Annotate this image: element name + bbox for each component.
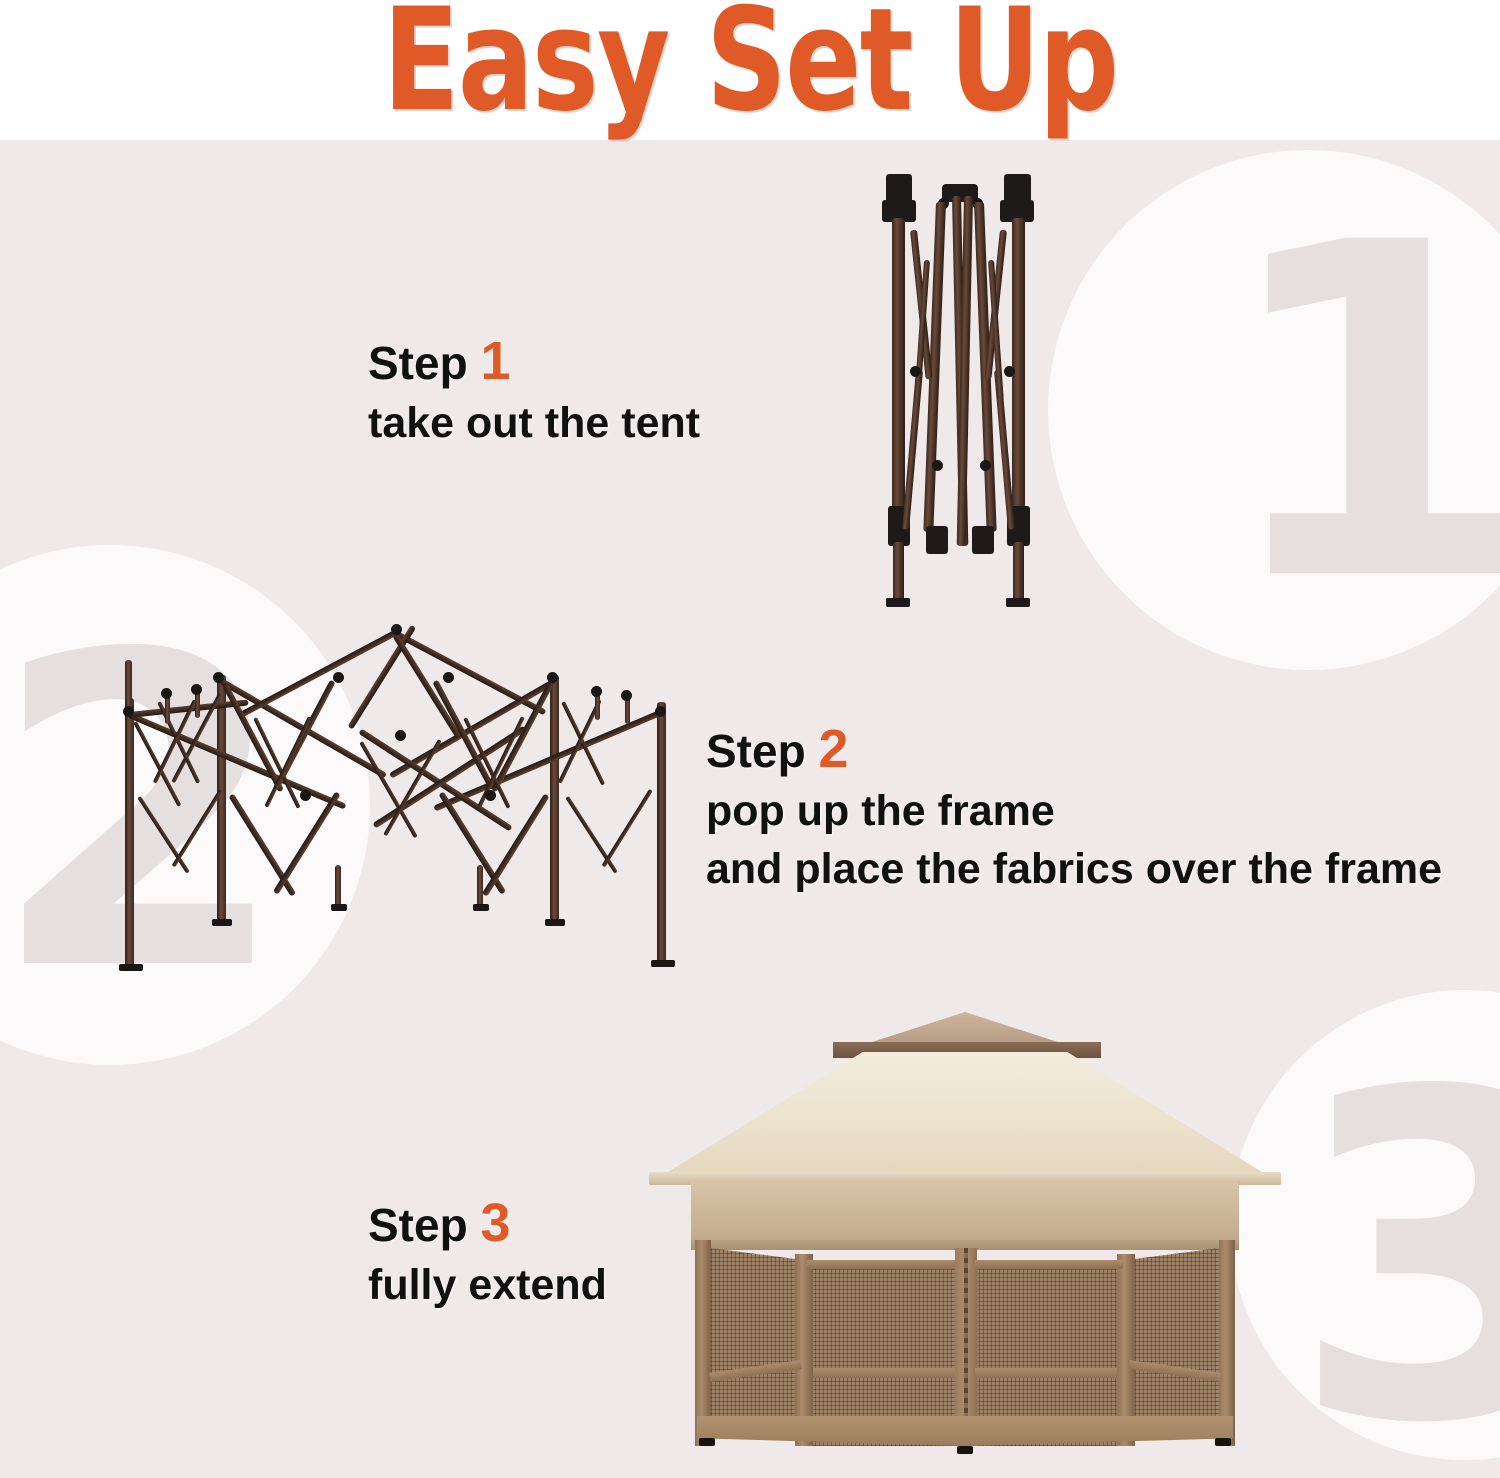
step-2-number: 2	[818, 719, 848, 779]
step-1-number: 1	[480, 331, 510, 391]
gazebo-roof-vent-top	[860, 1012, 1070, 1046]
popped-frame-illustration	[95, 620, 695, 990]
step-3-number: 3	[480, 1193, 510, 1253]
header-band: Easy Set Up	[0, 0, 1500, 140]
gazebo-canopy	[655, 1052, 1275, 1180]
step-1-text-block: Step 1 take out the tent	[368, 330, 700, 452]
step-3-head-label: Step	[368, 1199, 468, 1251]
step-1-line-1: take out the tent	[368, 394, 700, 452]
step-2-line-1: pop up the frame	[706, 782, 1442, 840]
step-3-line-1: fully extend	[368, 1256, 607, 1314]
page-title: Easy Set Up	[90, 0, 1410, 136]
folded-tent-illustration	[880, 170, 1040, 610]
watermark-number-3: 3	[1290, 1035, 1500, 1478]
step-1-head-label: Step	[368, 337, 468, 389]
step-2-line-2: and place the fabrics over the frame	[706, 840, 1442, 898]
step-2-heading: Step 2	[706, 718, 1442, 782]
gazebo-body	[695, 1240, 1235, 1452]
gazebo-illustration	[655, 1012, 1275, 1467]
step-3-text-block: Step 3 fully extend	[368, 1192, 607, 1314]
step-2-head-label: Step	[706, 725, 806, 777]
infographic-canvas: 1 2 3 Easy Set Up Step 1 take out the te…	[0, 0, 1500, 1478]
gazebo-valance	[691, 1182, 1239, 1242]
step-2-text-block: Step 2 pop up the frame and place the fa…	[706, 718, 1442, 898]
watermark-number-1: 1	[1216, 185, 1500, 645]
step-1-heading: Step 1	[368, 330, 700, 394]
step-3-heading: Step 3	[368, 1192, 607, 1256]
